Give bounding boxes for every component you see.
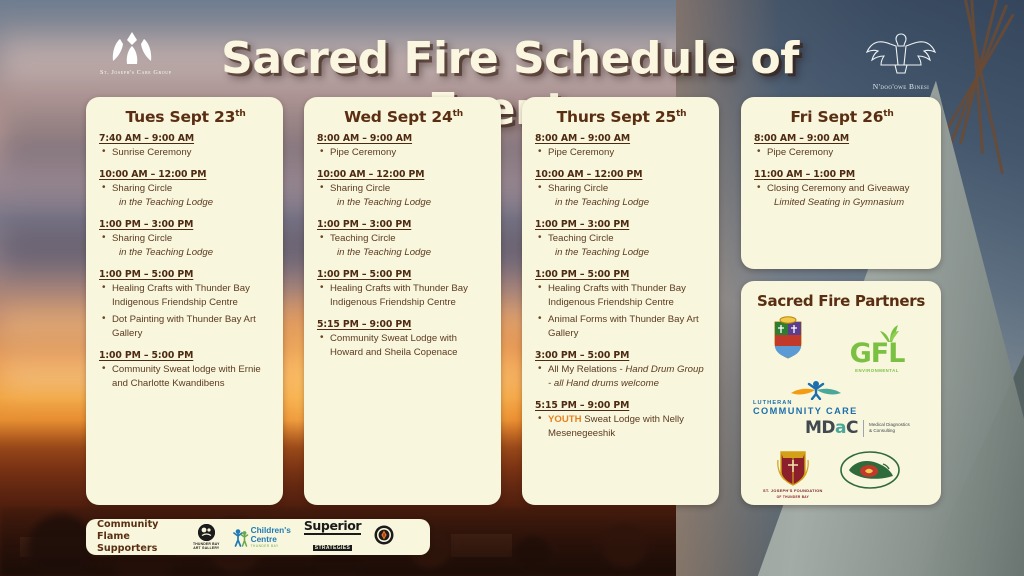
slot-item: Community Sweat Lodge with Howard and Sh… <box>317 332 490 360</box>
day-card-fri[interactable]: Fri Sept 26th 8:00 AM – 9:00 AMPipe Cere… <box>741 97 941 269</box>
crest-shield-icon <box>771 316 805 360</box>
slot-time: 8:00 AM – 9:00 AM <box>535 133 708 144</box>
slot-time: 5:15 PM – 9:00 PM <box>535 400 708 411</box>
day-slots-container: 7:40 AM – 9:00 AMSunrise Ceremony10:00 A… <box>99 133 272 391</box>
day-card-wed[interactable]: Wed Sept 24th 8:00 AM – 9:00 AMPipe Cere… <box>304 97 501 505</box>
day-slots-container: 8:00 AM – 9:00 AMPipe Ceremony10:00 AM –… <box>317 133 490 360</box>
day-slots-container: 8:00 AM – 9:00 AMPipe Ceremony10:00 AM –… <box>535 133 708 441</box>
thunder-bay-art-gallery-logo[interactable]: THUNDER BAYART GALLERY <box>193 524 220 550</box>
slot-time: 11:00 AM – 1:00 PM <box>754 169 930 180</box>
schedule-slot: 1:00 PM – 5:00 PMHealing Crafts with Thu… <box>99 269 272 341</box>
schedule-slot: 8:00 AM – 9:00 AMPipe Ceremony <box>535 133 708 160</box>
slot-time: 1:00 PM – 5:00 PM <box>317 269 490 280</box>
slot-item-list: Healing Crafts with Thunder Bay Indigeno… <box>99 282 272 341</box>
slot-item: Healing Crafts with Thunder Bay Indigeno… <box>535 282 708 310</box>
first-nation-icon <box>374 525 394 545</box>
schedule-slot: 1:00 PM – 3:00 PMSharing Circlein the Te… <box>99 219 272 260</box>
community-care-word: COMMUNITY CARE <box>753 406 858 416</box>
lutheran-figure-icon <box>787 380 845 400</box>
childrens-centre-line2: Centre <box>251 535 291 543</box>
ndoo-owe-binesi-logo: N'doo'owe Binesi <box>855 28 947 90</box>
schedule-slot: 8:00 AM – 9:00 AMPipe Ceremony <box>754 133 930 160</box>
slot-item: Sharing Circlein the Teaching Lodge <box>99 232 272 260</box>
slot-item-subtext: in the Teaching Lodge <box>548 196 708 210</box>
slot-item-list: Pipe Ceremony <box>535 146 708 160</box>
schedule-slot: 8:00 AM – 9:00 AMPipe Ceremony <box>317 133 490 160</box>
schedule-slot: 5:15 PM – 9:00 PMYOUTH Sweat Lodge with … <box>535 400 708 441</box>
slot-item: Pipe Ceremony <box>535 146 708 160</box>
slot-item-list: Pipe Ceremony <box>317 146 490 160</box>
schedule-slot: 1:00 PM – 5:00 PMHealing Crafts with Thu… <box>317 269 490 310</box>
slot-item-list: Teaching Circlein the Teaching Lodge <box>535 232 708 260</box>
slot-time: 1:00 PM – 5:00 PM <box>99 269 272 280</box>
art-gallery-caption: THUNDER BAYART GALLERY <box>193 542 220 550</box>
slot-item-list: Healing Crafts with Thunder Bay Indigeno… <box>535 282 708 341</box>
page-header: St. Joseph's Care Group Sacred Fire Sche… <box>0 0 1024 96</box>
slot-item: Sharing Circlein the Teaching Lodge <box>535 182 708 210</box>
gfl-wordmark: GFL <box>849 340 905 367</box>
partners-title: Sacred Fire Partners <box>741 292 941 310</box>
slot-item-list: Sharing Circlein the Teaching Lodge <box>99 232 272 260</box>
day-title: Thurs Sept 25th <box>535 108 708 126</box>
sacred-fire-partners-panel: Sacred Fire Partners <box>741 281 941 505</box>
lutheran-community-care-logo[interactable]: LUTHERAN COMMUNITY CARE <box>753 380 858 416</box>
slot-item-list: Community Sweat Lodge with Howard and Sh… <box>317 332 490 360</box>
superior-strategies-logo[interactable]: Superior STRATEGIES <box>304 520 361 554</box>
slot-time: 7:40 AM – 9:00 AM <box>99 133 272 144</box>
foundation-shield-icon <box>775 448 811 486</box>
slot-item-list: Closing Ceremony and GiveawayLimited Sea… <box>754 182 930 210</box>
crest-shield-svg <box>771 316 805 360</box>
highlight-text: YOUTH <box>548 414 582 425</box>
fort-william-first-nation-logo[interactable] <box>374 525 394 550</box>
slot-item: Healing Crafts with Thunder Bay Indigeno… <box>317 282 490 310</box>
slot-time: 8:00 AM – 9:00 AM <box>317 133 490 144</box>
mdac-logo[interactable]: MDaC Medical Diagnostics& Consulting <box>805 418 910 438</box>
slot-time: 1:00 PM – 3:00 PM <box>99 219 272 230</box>
slot-item: Sunrise Ceremony <box>99 146 272 160</box>
slot-item: All My Relations - Hand Drum Group - all… <box>535 363 708 391</box>
friendship-centre-icon <box>839 450 901 490</box>
schedule-slot: 1:00 PM – 3:00 PMTeaching Circlein the T… <box>317 219 490 260</box>
ndoo-owe-binesi-caption: N'doo'owe Binesi <box>855 82 947 91</box>
slot-item-subtext: in the Teaching Lodge <box>330 196 490 210</box>
childrens-centre-sub: THUNDER BAY <box>251 544 291 548</box>
slot-item-list: Sharing Circlein the Teaching Lodge <box>317 182 490 210</box>
thunderbird-icon <box>855 28 947 76</box>
slot-item-list: Community Sweat lodge with Ernie and Cha… <box>99 363 272 391</box>
slot-item: Sharing Circlein the Teaching Lodge <box>99 182 272 210</box>
slot-item: Animal Forms with Thunder Bay Art Galler… <box>535 313 708 341</box>
gfl-environmental-logo[interactable]: GFL ENVIRONMENTAL <box>849 322 905 373</box>
schedule-slot: 5:15 PM – 9:00 PMCommunity Sweat Lodge w… <box>317 319 490 360</box>
art-gallery-svg <box>198 524 215 541</box>
slot-item-list: Sharing Circlein the Teaching Lodge <box>99 182 272 210</box>
slot-item: Pipe Ceremony <box>754 146 930 160</box>
slot-item: Sharing Circlein the Teaching Lodge <box>317 182 490 210</box>
slot-item-subtext: Limited Seating in Gymnasium <box>767 196 930 210</box>
childrens-centre-logo[interactable]: Children's Centre THUNDER BAY <box>233 526 291 547</box>
mdac-tagline: Medical Diagnostics& Consulting <box>869 422 910 433</box>
divider <box>863 420 864 437</box>
slot-item-list: All My Relations - Hand Drum Group - all… <box>535 363 708 391</box>
schedule-slot: 1:00 PM – 5:00 PMCommunity Sweat lodge w… <box>99 350 272 391</box>
slot-item: Community Sweat lodge with Ernie and Cha… <box>99 363 272 391</box>
superior-wordmark: Superior <box>304 520 361 533</box>
schedule-slot: 1:00 PM – 5:00 PMHealing Crafts with Thu… <box>535 269 708 341</box>
gfl-tagline: ENVIRONMENTAL <box>849 368 905 373</box>
community-flame-supporters-bar: Community FlameSupporters THUNDER BAYART… <box>86 519 430 555</box>
slot-item-subtext: in the Teaching Lodge <box>330 246 490 260</box>
emphasis-text: Hand Drum Group - all Hand drums welcome <box>548 364 704 389</box>
diocese-crest-logo[interactable] <box>771 316 805 360</box>
slot-item: Pipe Ceremony <box>317 146 490 160</box>
slot-item-list: Sunrise Ceremony <box>99 146 272 160</box>
slot-item-list: Teaching Circlein the Teaching Lodge <box>317 232 490 260</box>
slot-item: YOUTH Sweat Lodge with Nelly Mesenegeesh… <box>535 413 708 441</box>
foundation-subcaption: OF THUNDER BAY <box>763 495 823 499</box>
slot-item-list: Healing Crafts with Thunder Bay Indigeno… <box>317 282 490 310</box>
slot-item: Teaching Circlein the Teaching Lodge <box>317 232 490 260</box>
strategies-wordmark: STRATEGIES <box>313 545 353 551</box>
supporters-label: Community FlameSupporters <box>97 519 189 556</box>
slot-time: 8:00 AM – 9:00 AM <box>754 133 930 144</box>
slot-time: 3:00 PM – 5:00 PM <box>535 350 708 361</box>
slot-item-list: Sharing Circlein the Teaching Lodge <box>535 182 708 210</box>
slot-item-list: YOUTH Sweat Lodge with Nelly Mesenegeesh… <box>535 413 708 441</box>
schedule-slot: 11:00 AM – 1:00 PMClosing Ceremony and G… <box>754 169 930 210</box>
day-title: Fri Sept 26th <box>754 108 930 126</box>
st-josephs-care-group-logo: St. Joseph's Care Group <box>100 30 164 88</box>
schedule-slot: 3:00 PM – 5:00 PMAll My Relations - Hand… <box>535 350 708 391</box>
day-card-thurs[interactable]: Thurs Sept 25th 8:00 AM – 9:00 AMPipe Ce… <box>522 97 719 505</box>
day-card-tues[interactable]: Tues Sept 23th 7:40 AM – 9:00 AMSunrise … <box>86 97 283 505</box>
slot-time: 10:00 AM – 12:00 PM <box>99 169 272 180</box>
slot-item-subtext: in the Teaching Lodge <box>548 246 708 260</box>
slot-time: 1:00 PM – 5:00 PM <box>535 269 708 280</box>
day-slots-container: 8:00 AM – 9:00 AMPipe Ceremony11:00 AM –… <box>754 133 930 210</box>
art-gallery-icon <box>198 524 215 541</box>
day-title: Tues Sept 23th <box>99 108 272 126</box>
slot-item: Closing Ceremony and GiveawayLimited Sea… <box>754 182 930 210</box>
day-title: Wed Sept 24th <box>317 108 490 126</box>
slot-item: Healing Crafts with Thunder Bay Indigeno… <box>99 282 272 310</box>
care-group-icon <box>106 30 158 66</box>
slot-time: 1:00 PM – 5:00 PM <box>99 350 272 361</box>
slot-item-subtext: in the Teaching Lodge <box>112 196 272 210</box>
schedule-slot: 1:00 PM – 3:00 PMTeaching Circlein the T… <box>535 219 708 260</box>
schedule-slot: 10:00 AM – 12:00 PMSharing Circlein the … <box>317 169 490 210</box>
st-josephs-care-group-caption: St. Joseph's Care Group <box>100 69 164 76</box>
slot-item: Teaching Circlein the Teaching Lodge <box>535 232 708 260</box>
slot-time: 10:00 AM – 12:00 PM <box>535 169 708 180</box>
st-josephs-foundation-logo[interactable]: ST. JOSEPH'S FOUNDATION OF THUNDER BAY <box>763 448 823 499</box>
slot-item: Dot Painting with Thunder Bay Art Galler… <box>99 313 272 341</box>
schedule-slot: 10:00 AM – 12:00 PMSharing Circlein the … <box>99 169 272 210</box>
slot-time: 1:00 PM – 3:00 PM <box>317 219 490 230</box>
rule <box>304 533 361 535</box>
slot-time: 5:15 PM – 9:00 PM <box>317 319 490 330</box>
care-group-icon-svg <box>106 30 158 66</box>
schedule-slot: 7:40 AM – 9:00 AMSunrise Ceremony <box>99 133 272 160</box>
childrens-centre-icon <box>233 528 249 547</box>
thunder-bay-indigenous-friendship-centre-logo[interactable] <box>839 450 901 490</box>
schedule-slot: 10:00 AM – 12:00 PMSharing Circlein the … <box>535 169 708 210</box>
foundation-caption: ST. JOSEPH'S FOUNDATION <box>763 488 823 493</box>
slot-item-subtext: in the Teaching Lodge <box>112 246 272 260</box>
slot-item-list: Pipe Ceremony <box>754 146 930 160</box>
slot-time: 10:00 AM – 12:00 PM <box>317 169 490 180</box>
friendship-centre-svg <box>839 450 901 490</box>
slot-time: 1:00 PM – 3:00 PM <box>535 219 708 230</box>
mdac-wordmark: MDaC <box>805 418 858 438</box>
